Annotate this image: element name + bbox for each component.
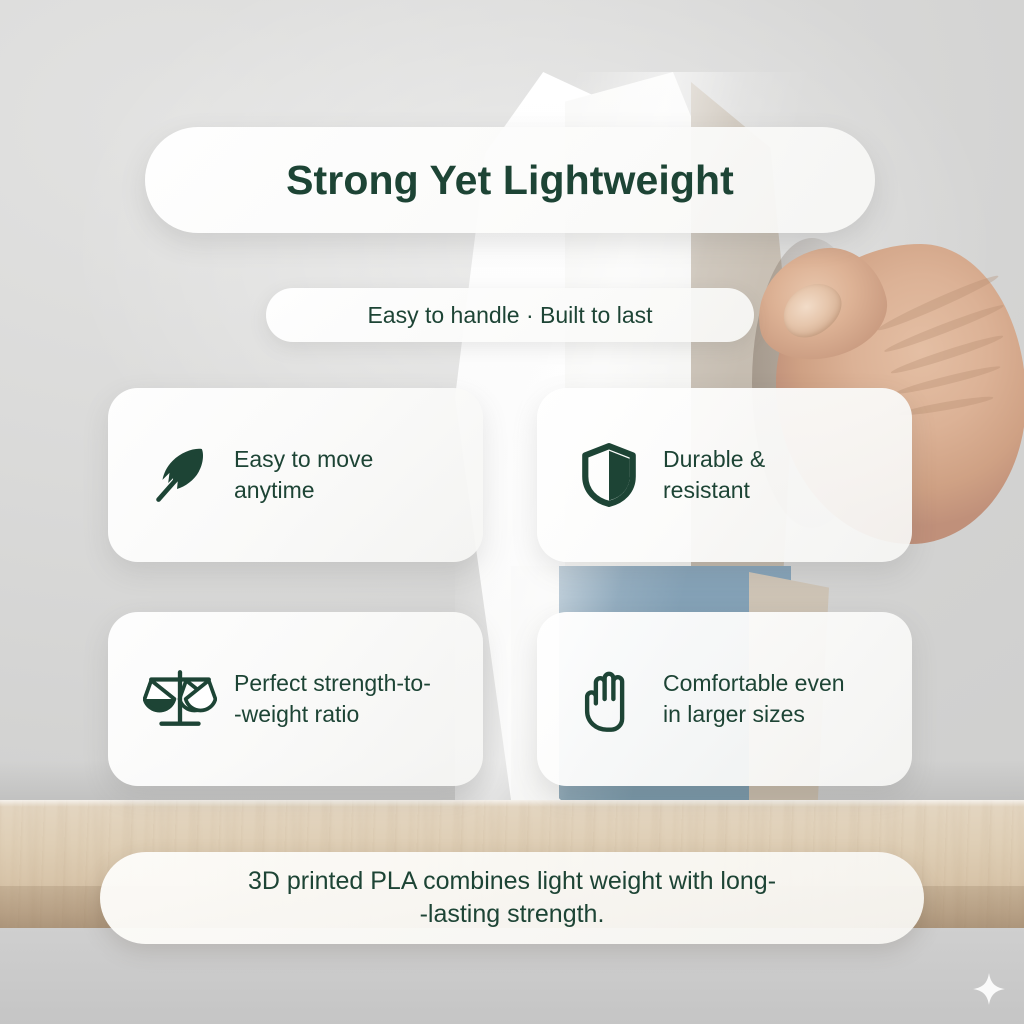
page-subtitle: Easy to handle · Built to last <box>367 302 652 329</box>
shield-icon <box>563 429 655 521</box>
feature-card-durable[interactable]: Durable & resistant <box>537 388 912 562</box>
promo-graphic: Strong Yet Lightweight Easy to handle · … <box>0 0 1024 1024</box>
balance-scale-icon <box>134 653 226 745</box>
thumbnail <box>773 274 851 347</box>
title-pill: Strong Yet Lightweight <box>145 127 875 233</box>
feather-icon <box>134 429 226 521</box>
feature-label: Perfect strength-to- -weight ratio <box>234 668 431 731</box>
footer-caption: 3D printed PLA combines light weight wit… <box>248 865 776 932</box>
feature-label: Comfortable even in larger sizes <box>663 668 845 731</box>
feature-label: Durable & resistant <box>663 444 765 507</box>
page-title: Strong Yet Lightweight <box>286 157 734 204</box>
feature-label: Easy to move anytime <box>234 444 373 507</box>
footer-caption-pill: 3D printed PLA combines light weight wit… <box>100 852 924 944</box>
feature-card-comfortable[interactable]: Comfortable even in larger sizes <box>537 612 912 786</box>
open-hand-icon <box>563 653 655 745</box>
feature-card-easy-to-move[interactable]: Easy to move anytime <box>108 388 483 562</box>
shelf-top-edge <box>0 800 1024 807</box>
feature-card-strength-ratio[interactable]: Perfect strength-to- -weight ratio <box>108 612 483 786</box>
subtitle-pill: Easy to handle · Built to last <box>266 288 754 342</box>
feature-grid: Easy to move anytime Durable & resistant <box>108 388 920 786</box>
sparkle-icon <box>972 972 1006 1006</box>
